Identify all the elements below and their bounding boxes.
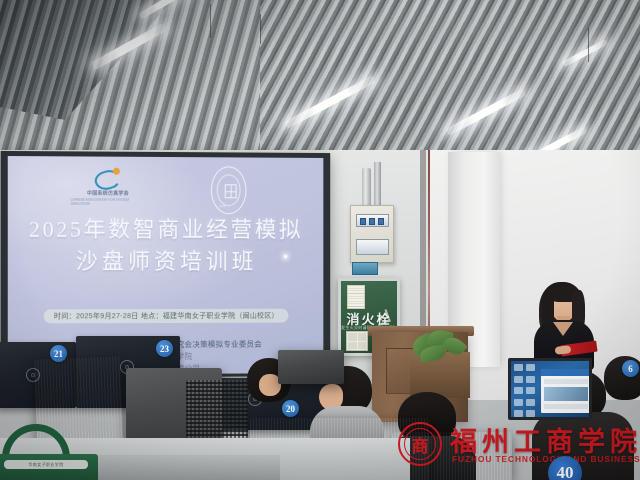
- desktop-icon-grid[interactable]: [514, 364, 538, 419]
- notice-paper: [347, 285, 365, 309]
- bag-label: 华南女子职业学院: [4, 460, 88, 469]
- electrical-distribution-panel: [350, 205, 394, 263]
- slide-title-line1: 2025年数智商业经营模拟: [8, 215, 324, 246]
- seal-year: 1908: [219, 204, 226, 208]
- desktop-icon[interactable]: [526, 399, 535, 406]
- monitor-number-badge: 6: [622, 360, 639, 377]
- seal-ring-icon: [211, 166, 247, 214]
- blue-wall-box: [352, 262, 378, 275]
- classroom-photo: 中国系统仿真学会 CHINESE ASSOCIATION FOR SYSTEM …: [0, 0, 640, 480]
- breaker-switch-1[interactable]: [360, 218, 366, 225]
- desktop-icon[interactable]: [514, 376, 523, 383]
- slide-title: 2025年数智商业经营模拟 沙盘师资培训班: [8, 215, 324, 280]
- window-row: [544, 404, 588, 409]
- federation-mark-icon: [95, 168, 121, 188]
- slide-meta-line: 时间：2025年9月27-28日 地点：福建华南女子职业学院（闽山校区）: [44, 309, 289, 324]
- china-simulation-federation-logo: 中国系统仿真学会 CHINESE ASSOCIATION FOR SYSTEM …: [71, 166, 145, 206]
- panel-window-top: [356, 214, 389, 227]
- open-browser-window[interactable]: [541, 369, 591, 413]
- window-titlebar[interactable]: [541, 369, 591, 376]
- university-seal: 1908: [205, 163, 253, 219]
- green-tote-bag: 华南女子职业学院: [0, 424, 106, 480]
- desktop-icon[interactable]: [526, 387, 535, 394]
- desktop-icon[interactable]: [526, 410, 535, 417]
- student-desktop-monitor[interactable]: [508, 358, 592, 420]
- foreground-monitor-top: [278, 350, 344, 384]
- federation-logo-en: CHINESE ASSOCIATION FOR SYSTEM SIMULATIO…: [71, 198, 145, 206]
- desktop-icon[interactable]: [514, 364, 523, 371]
- standing-presenter: [527, 282, 601, 368]
- federation-logo-cn: 中国系统仿真学会: [87, 190, 129, 197]
- slide-logo-row: 中国系统仿真学会 CHINESE ASSOCIATION FOR SYSTEM …: [8, 162, 324, 221]
- foreground-monitor-back: [392, 432, 512, 480]
- monitor-number-badge: 23: [156, 340, 173, 357]
- bag-label-text: 华南女子职业学院: [4, 460, 88, 469]
- desktop-icon[interactable]: [514, 399, 523, 406]
- slide-title-line2: 沙盘师资培训班: [8, 245, 324, 279]
- breaker-switch-2[interactable]: [369, 218, 375, 225]
- desktop-icon[interactable]: [514, 410, 523, 417]
- desktop-icon[interactable]: [526, 364, 535, 371]
- cabinet-sticker: [346, 331, 368, 351]
- window-image: [544, 387, 588, 401]
- desktop-icon[interactable]: [526, 376, 535, 383]
- panel-window-bottom: [356, 239, 389, 255]
- sparkle-icon: [284, 255, 287, 258]
- wall-conduit-2: [374, 162, 381, 210]
- breaker-switch-3[interactable]: [378, 218, 384, 225]
- window-row: [544, 379, 588, 384]
- desktop-icon[interactable]: [514, 387, 523, 394]
- student-torso: [532, 412, 634, 480]
